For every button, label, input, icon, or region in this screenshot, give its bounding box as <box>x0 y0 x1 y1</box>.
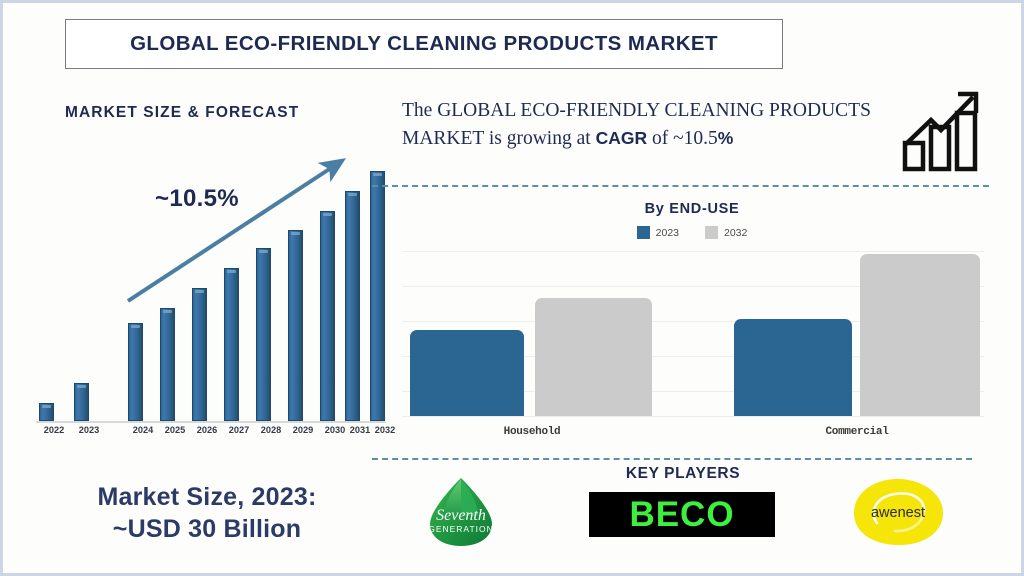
forecast-bar-2024 <box>128 323 143 421</box>
forecast-label-2026: 2026 <box>190 425 224 435</box>
enduse-legend: 2023 2032 <box>402 226 982 239</box>
infographic-page: GLOBAL ECO-FRIENDLY CLEANING PRODUCTS MA… <box>0 0 1024 576</box>
market-size-statement: Market Size, 2023: ~USD 30 Billion <box>47 481 367 545</box>
forecast-baseline <box>36 421 386 423</box>
forecast-label-2028: 2028 <box>254 425 288 435</box>
awenest-logo: awenest <box>851 477 945 547</box>
forecast-bar-2028 <box>256 248 271 421</box>
forecast-label-2022: 2022 <box>37 425 71 435</box>
legend-label-2023: 2023 <box>656 227 679 239</box>
growth-bar-chart-icon <box>901 86 989 172</box>
seventh-generation-line2: GENERATION <box>428 524 494 534</box>
divider-top <box>372 185 989 187</box>
forecast-label-2032: 2032 <box>368 425 402 435</box>
forecast-bar-2030 <box>320 211 335 421</box>
enduse-category-commercial: Commercial <box>787 426 927 438</box>
market-size-forecast-heading: MARKET SIZE & FORECAST <box>65 104 299 122</box>
legend-item-2032: 2032 <box>705 226 747 239</box>
enduse-bar-commercial-2032 <box>860 254 980 416</box>
forecast-bar-2023 <box>74 383 89 421</box>
forecast-label-2024: 2024 <box>126 425 160 435</box>
beco-logo-text: BECO <box>629 495 734 535</box>
forecast-bar-2032 <box>370 171 385 421</box>
intro-paragraph: The GLOBAL ECO-FRIENDLY CLEANING PRODUCT… <box>402 97 886 152</box>
forecast-label-2029: 2029 <box>286 425 320 435</box>
gridline <box>402 416 984 417</box>
forecast-label-2023: 2023 <box>72 425 106 435</box>
legend-label-2032: 2032 <box>724 227 747 239</box>
enduse-category-household: Household <box>462 426 602 438</box>
intro-percent-bold: % <box>718 128 734 148</box>
enduse-bar-household-2032 <box>535 298 652 416</box>
enduse-chart-title: By END-USE <box>402 201 982 217</box>
legend-swatch-2023 <box>637 226 650 239</box>
forecast-label-2025: 2025 <box>158 425 192 435</box>
beco-logo: BECO <box>589 492 775 537</box>
enduse-bar-commercial-2023 <box>734 319 852 416</box>
intro-text-part-2: of ~10.5 <box>647 128 718 149</box>
seventh-generation-line1: Seventh <box>436 507 486 524</box>
intro-cagr-bold: CAGR <box>596 128 648 148</box>
seventh-generation-logo: Seventh GENERATION <box>416 476 506 548</box>
forecast-bar-2029 <box>288 230 303 421</box>
gridline <box>402 251 984 252</box>
forecast-bar-2022 <box>39 403 54 421</box>
cagr-callout: ~10.5% <box>155 185 239 213</box>
legend-item-2023: 2023 <box>637 226 679 239</box>
page-title-box: GLOBAL ECO-FRIENDLY CLEANING PRODUCTS MA… <box>65 19 783 69</box>
page-title: GLOBAL ECO-FRIENDLY CLEANING PRODUCTS MA… <box>130 32 718 56</box>
awenest-logo-text: awenest <box>871 505 925 521</box>
legend-swatch-2032 <box>705 226 718 239</box>
market-size-line-1: Market Size, 2023: <box>47 481 367 513</box>
market-size-line-2: ~USD 30 Billion <box>47 513 367 545</box>
forecast-bar-2027 <box>224 268 239 421</box>
key-players-title: KEY PLAYERS <box>533 465 833 483</box>
forecast-bar-2026 <box>192 288 207 421</box>
divider-bottom <box>372 458 972 460</box>
forecast-bar-2031 <box>345 191 360 421</box>
by-end-use-chart: Household Commercial <box>402 243 984 438</box>
forecast-bar-2025 <box>160 308 175 421</box>
enduse-bar-household-2023 <box>410 330 524 416</box>
forecast-label-2027: 2027 <box>222 425 256 435</box>
